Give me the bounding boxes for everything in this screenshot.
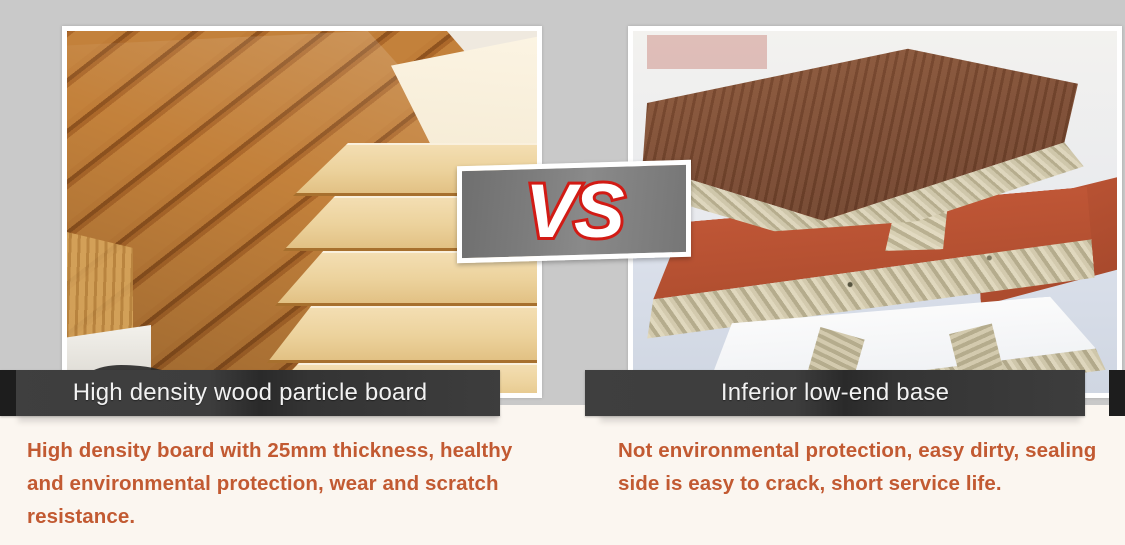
versus-badge: VS — [457, 160, 691, 264]
left-description-text: High density board with 25mm thickness, … — [27, 434, 547, 533]
right-caption-bar: Inferior low-end base — [585, 370, 1085, 416]
comparison-banner: VS High density wood particle board Infe… — [0, 0, 1125, 545]
inferior-board-scene — [633, 31, 1117, 393]
board-slab — [267, 306, 537, 363]
veneer-board-top — [635, 31, 1086, 240]
right-caption-text: Inferior low-end base — [721, 379, 949, 407]
right-description-text: Not environmental protection, easy dirty… — [618, 434, 1118, 500]
left-caption-text: High density wood particle board — [73, 379, 428, 407]
versus-label: VS — [457, 163, 691, 260]
right-product-photo — [628, 26, 1122, 398]
left-caption-bar: High density wood particle board — [0, 370, 500, 416]
right-bar-end-tab — [1109, 370, 1125, 416]
right-photo-canvas — [633, 31, 1117, 393]
left-bar-end-tab — [0, 370, 16, 416]
